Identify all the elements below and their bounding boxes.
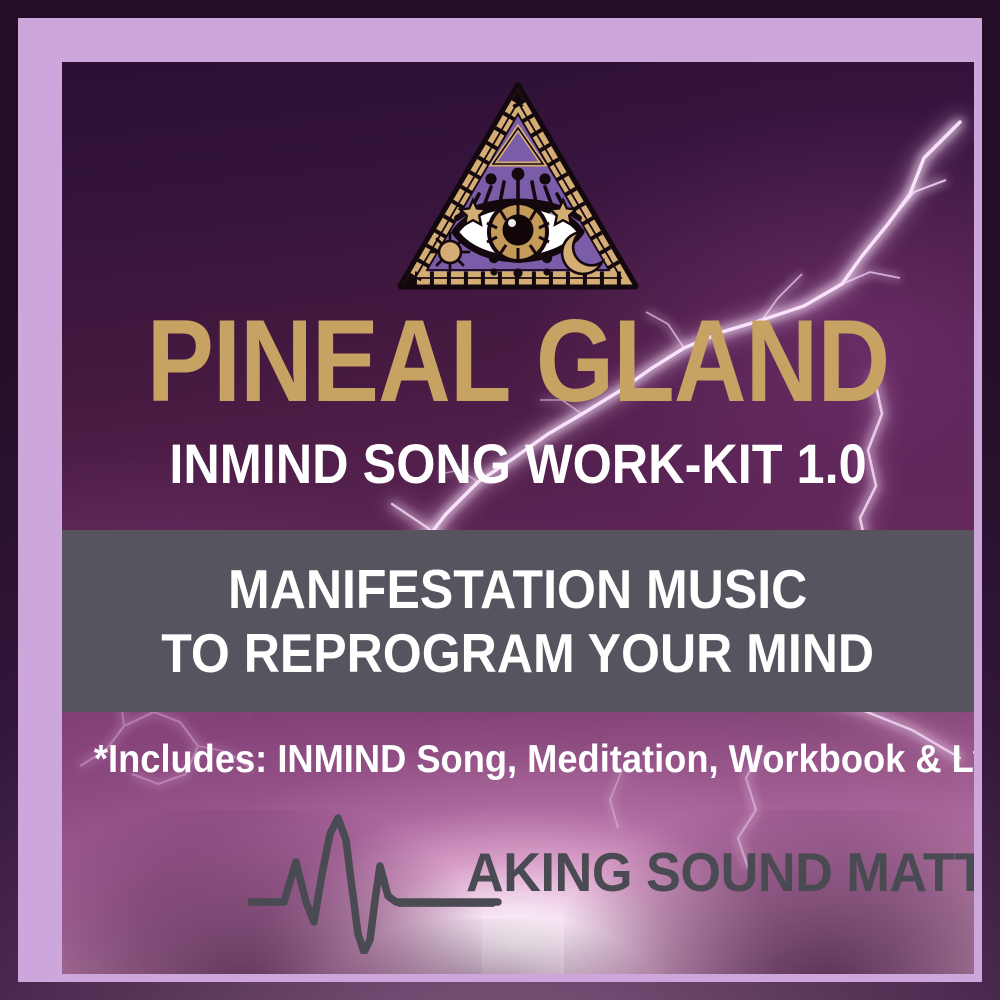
tagline-band: MANIFESTATION MUSIC TO REPROGRAM YOUR MI… <box>62 530 974 712</box>
all-seeing-eye-pyramid <box>395 80 641 292</box>
lavender-border-frame: PINEAL GLAND INMIND SONG WORK-KIT 1.0 MA… <box>18 18 982 982</box>
tagline-line-1: MANIFESTATION MUSIC <box>162 557 875 621</box>
lightning-photo-background: PINEAL GLAND INMIND SONG WORK-KIT 1.0 MA… <box>62 62 974 974</box>
page-subtitle: INMIND SONG WORK-KIT 1.0 <box>108 436 929 492</box>
includes-note: *Includes: INMIND Song, Meditation, Work… <box>94 738 942 782</box>
brand-name: AKING SOUND MATTER <box>466 840 974 904</box>
brand-logo: AKING SOUND MATTER <box>62 804 974 954</box>
tagline-line-2: TO REPROGRAM YOUR MIND <box>162 621 875 685</box>
tagline-text: MANIFESTATION MUSIC TO REPROGRAM YOUR MI… <box>162 557 875 686</box>
poster-artwork: PINEAL GLAND INMIND SONG WORK-KIT 1.0 MA… <box>0 0 1000 1000</box>
page-title: PINEAL GLAND <box>126 305 910 417</box>
